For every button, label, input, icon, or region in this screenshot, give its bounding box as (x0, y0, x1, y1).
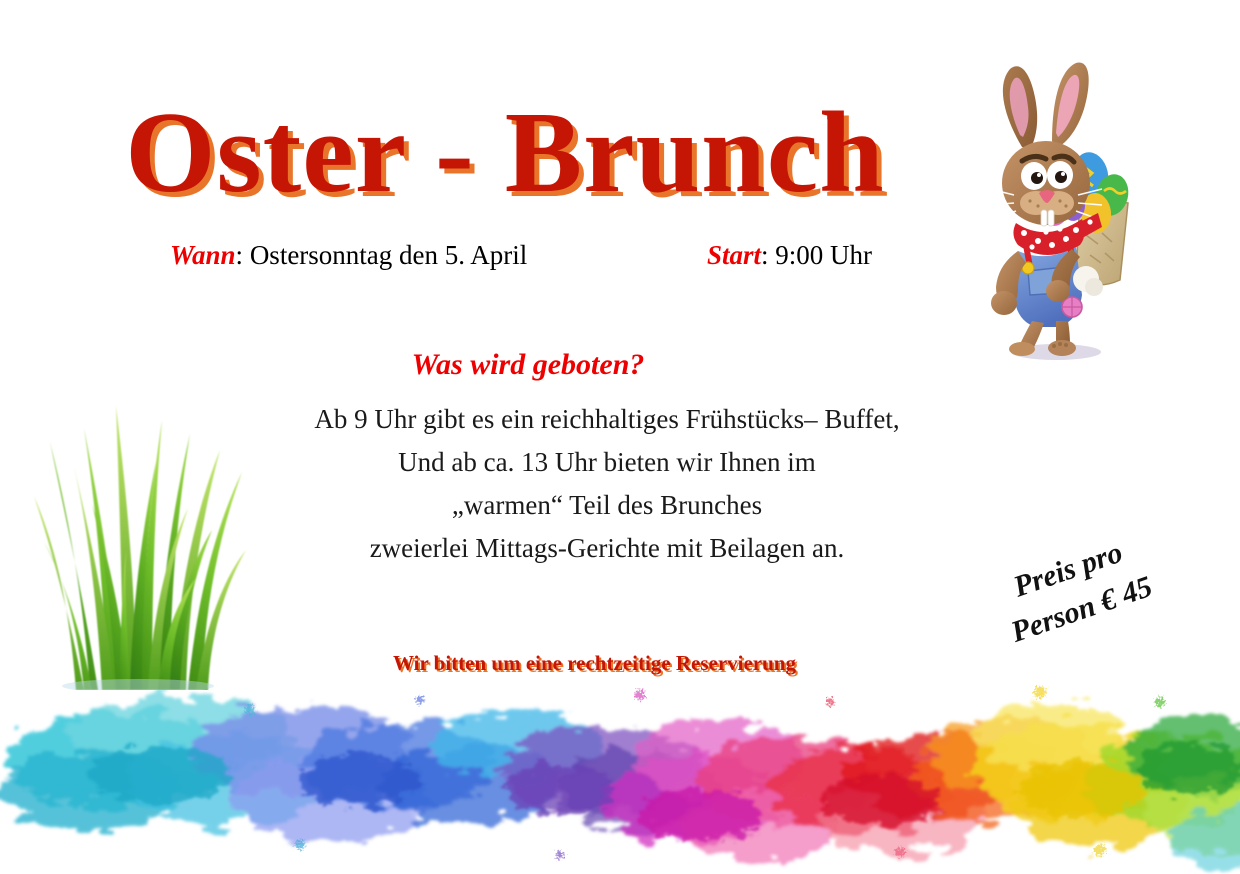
offer-description: Ab 9 Uhr gibt es ein reichhaltiges Frühs… (0, 398, 1240, 570)
meta-when-separator: : (236, 240, 250, 270)
poster-canvas: Oster - Brunch Wann: Ostersonntag den 5.… (0, 0, 1240, 874)
meta-when-label: Wann (170, 240, 236, 270)
description-line: Und ab ca. 13 Uhr bieten wir Ihnen im (0, 441, 1227, 484)
easter-bunny-illustration (960, 55, 1145, 365)
description-line: Ab 9 Uhr gibt es ein reichhaltiges Frühs… (0, 398, 1227, 441)
reservation-note: Wir bitten um eine rechtzeitige Reservie… (393, 651, 796, 676)
meta-when: Wann: Ostersonntag den 5. April (170, 240, 527, 271)
meta-when-value: Ostersonntag den 5. April (250, 240, 527, 270)
description-line: „warmen“ Teil des Brunches (0, 484, 1227, 527)
meta-start: Start: 9:00 Uhr (707, 240, 872, 271)
meta-start-value: 9:00 Uhr (775, 240, 872, 270)
offer-heading-text: Was wird geboten? (412, 348, 645, 382)
poster-title: Oster - Brunch (0, 95, 1010, 211)
meta-start-separator: : (761, 240, 775, 270)
meta-start-label: Start (707, 240, 761, 270)
